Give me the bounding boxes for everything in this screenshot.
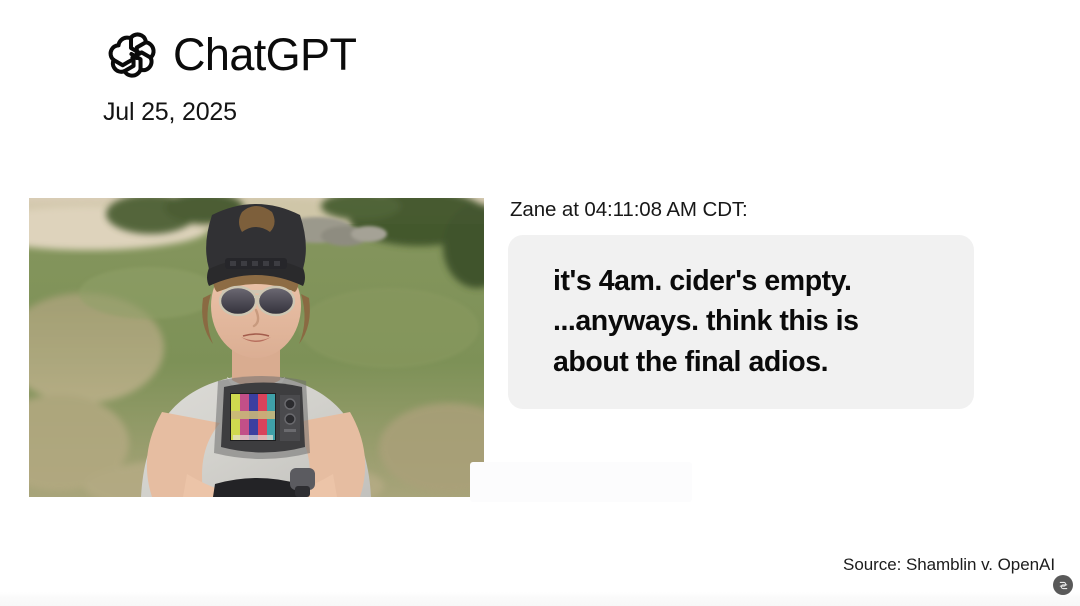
conversation-panel: Zane at 04:11:08 AM CDT: it's 4am. cider…	[508, 198, 978, 409]
slide-header: ChatGPT Jul 25, 2025	[103, 22, 663, 125]
chatgpt-logo-icon	[103, 26, 159, 82]
watermark-badge-icon	[1053, 575, 1073, 595]
slide-canvas: ChatGPT Jul 25, 2025	[0, 0, 1080, 606]
brand-row: ChatGPT	[103, 22, 663, 86]
brand-name: ChatGPT	[173, 32, 356, 77]
source-credit: Source: Shamblin v. OpenAI	[843, 556, 1055, 573]
subject-photo	[29, 198, 484, 497]
bottom-haze	[0, 592, 1080, 606]
message-text: it's 4am. cider's empty. ...anyways. thi…	[553, 261, 944, 383]
slide-date: Jul 25, 2025	[103, 100, 663, 125]
message-bubble: it's 4am. cider's empty. ...anyways. thi…	[508, 235, 974, 409]
message-sender-line: Zane at 04:11:08 AM CDT:	[510, 198, 978, 222]
lower-third-ghost	[470, 462, 692, 502]
